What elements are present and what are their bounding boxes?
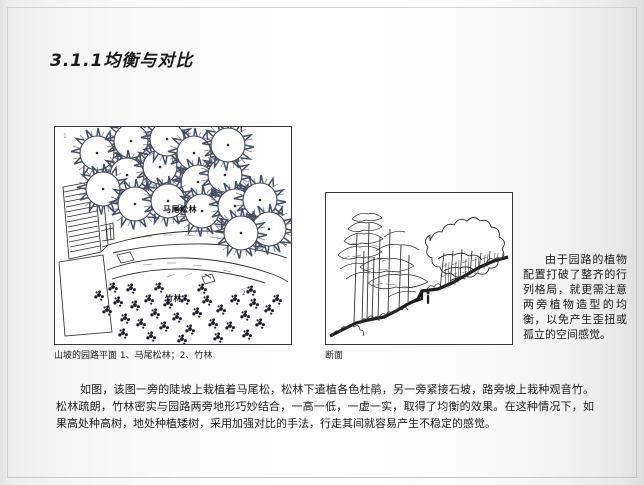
section-drawing-svg (326, 193, 512, 344)
plan-drawing-svg: 2 (55, 127, 291, 344)
slide-canvas: 3.1.1均衡与对比 (0, 0, 644, 485)
side-note-text: 由于园路的植物配置打破了整齐的行列格局，就更需注意两旁植物造型的均衡，以免产生歪… (523, 252, 627, 342)
svg-text:2: 2 (242, 290, 246, 297)
pine-forest-label: 马尾松林 (163, 204, 197, 215)
figure-section-caption: 断面 (325, 348, 343, 361)
page-title: 3.1.1均衡与对比 (50, 46, 193, 71)
bamboo-grove-label: 竹林 (165, 293, 182, 304)
figure-plan-caption: 山坡的园路平面 1、马尾松林；2、竹林 (54, 348, 212, 361)
figure-section-drawing (325, 192, 513, 345)
body-paragraph: 如图，该图一旁的陡坡上栽植着马尾松，松林下遣植各色杜鹃，另一旁紧接石坡，路旁坡上… (56, 381, 594, 432)
figure-plan-drawing: 2 马尾松林 竹林 1 (54, 126, 292, 345)
figure-corner-mark: 1 (63, 133, 67, 140)
